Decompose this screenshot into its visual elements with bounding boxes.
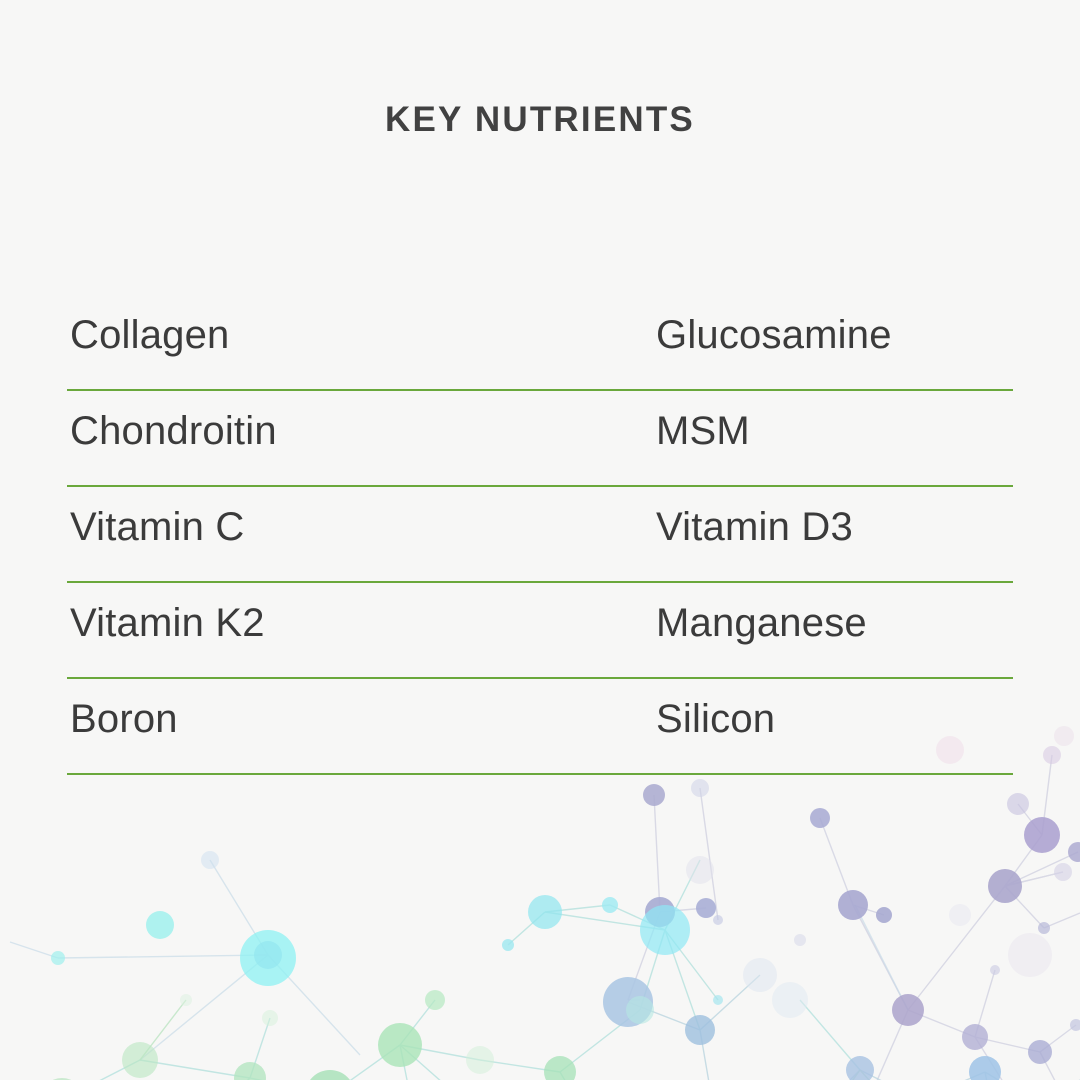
table-row: Chondroitin MSM xyxy=(67,391,1013,487)
page-title: KEY NUTRIENTS xyxy=(0,100,1080,140)
nutrient-item: Vitamin C xyxy=(67,487,656,547)
nutrient-item: Collagen xyxy=(67,295,656,355)
nutrient-item: Vitamin K2 xyxy=(67,583,656,643)
nutrient-item: Manganese xyxy=(656,583,1013,643)
nutrient-item: Silicon xyxy=(656,679,1013,739)
nutrient-item: MSM xyxy=(656,391,1013,451)
nutrient-card: KEY NUTRIENTS Collagen Glucosamine Chond… xyxy=(0,0,1080,1080)
nutrient-item: Chondroitin xyxy=(67,391,656,451)
table-row: Vitamin K2 Manganese xyxy=(67,583,1013,679)
table-row: Collagen Glucosamine xyxy=(67,295,1013,391)
nutrient-item: Vitamin D3 xyxy=(656,487,1013,547)
nutrient-item: Glucosamine xyxy=(656,295,1013,355)
nutrient-item: Boron xyxy=(67,679,656,739)
nutrient-table: Collagen Glucosamine Chondroitin MSM Vit… xyxy=(67,295,1013,775)
table-row: Vitamin C Vitamin D3 xyxy=(67,487,1013,583)
table-row: Boron Silicon xyxy=(67,679,1013,775)
